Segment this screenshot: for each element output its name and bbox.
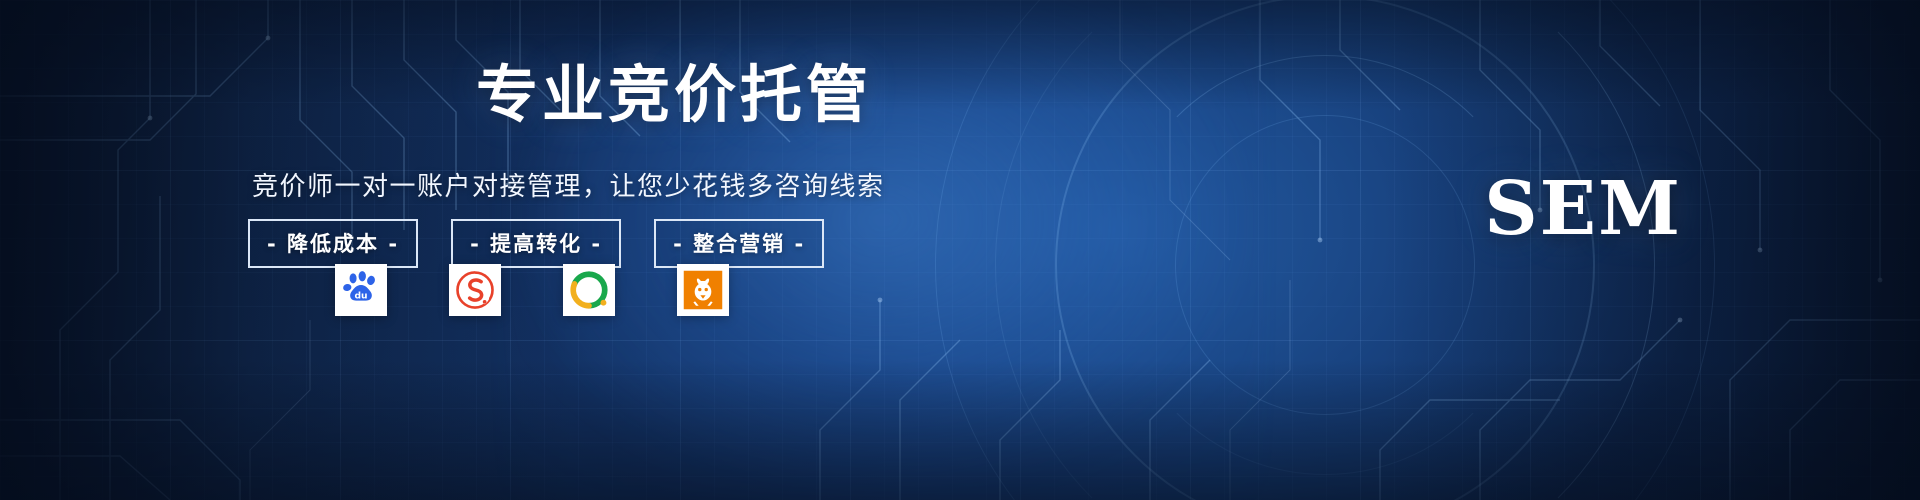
sogou-logo [454,269,496,311]
feature-tag-list: - 降低成本 - - 提高转化 - - 整合营销 - [248,219,824,268]
platform-logo-list: du [335,264,729,316]
sogou-logo-tile[interactable] [449,264,501,316]
shenma-logo-tile[interactable] [677,264,729,316]
banner-content: 专业竞价托管 竞价师一对一账户对接管理，让您少花钱多咨询线索 - 降低成本 - … [0,0,1920,500]
baidu-logo-tile[interactable]: du [335,264,387,316]
shenma-logo [682,269,724,311]
tag-integrated-marketing[interactable]: - 整合营销 - [654,219,824,268]
sem-promo-banner: 专业竞价托管 竞价师一对一账户对接管理，让您少花钱多咨询线索 - 降低成本 - … [0,0,1920,500]
banner-subtitle: 竞价师一对一账户对接管理，让您少花钱多咨询线索 [252,166,885,203]
sem-brand-mark: SEM [1484,172,1682,246]
tag-reduce-cost[interactable]: - 降低成本 - [248,219,418,268]
tag-improve-conversion[interactable]: - 提高转化 - [451,219,621,268]
qihoo-360-logo [568,269,610,311]
svg-text:du: du [354,290,367,301]
banner-title: 专业竞价托管 [476,62,872,129]
qihoo-360-logo-tile[interactable] [563,264,615,316]
baidu-logo: du [341,270,381,310]
